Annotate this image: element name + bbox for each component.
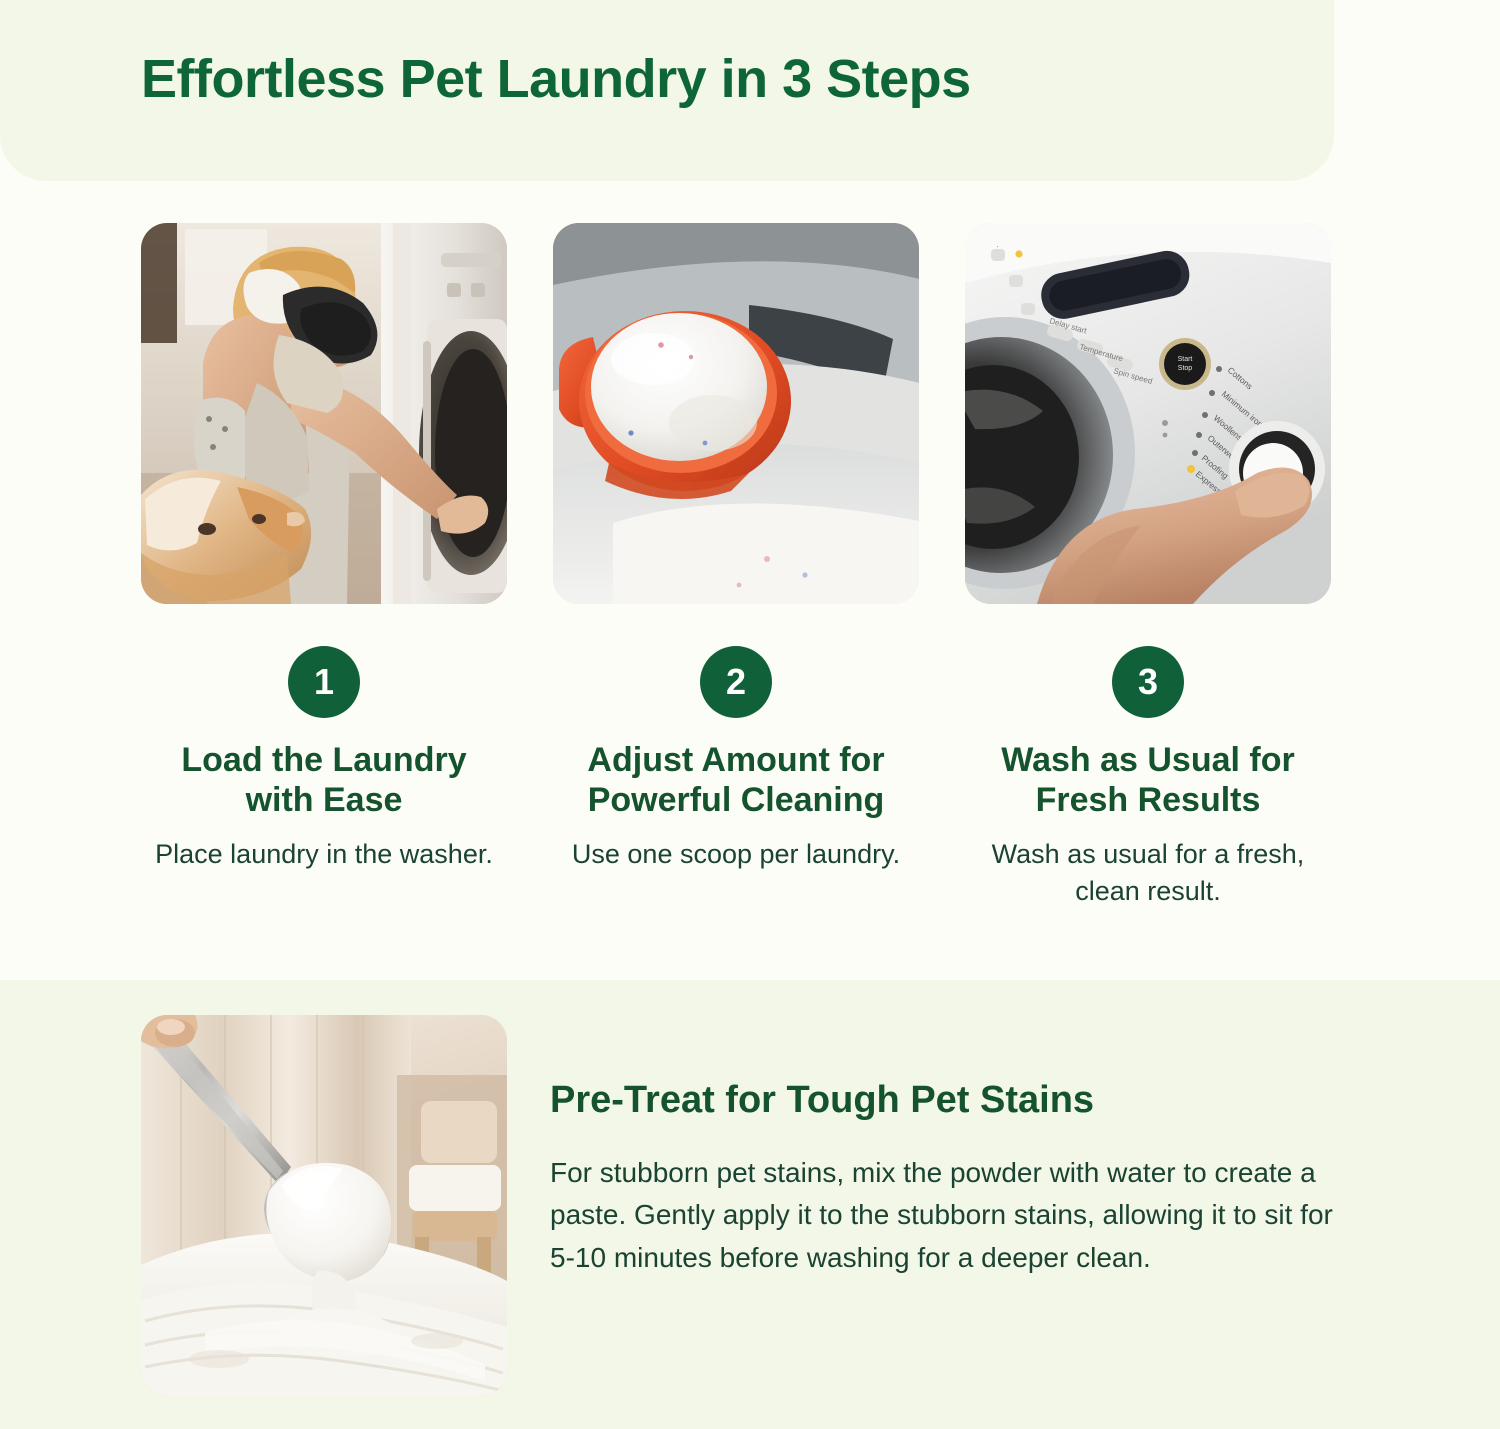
steps-row: 1 Load the Laundry with Ease Place laund… — [0, 223, 1500, 911]
washing-machine-dial-photo: Start Stop Delay start Temperature — [965, 223, 1331, 604]
infographic-page: Effortless Pet Laundry in 3 Steps — [0, 0, 1500, 1429]
pre-treat-text-block: Pre-Treat for Tough Pet Stains For stubb… — [550, 1078, 1350, 1279]
child-loading-laundry-with-dog-photo — [141, 223, 507, 604]
spoon-with-paste-photo — [141, 1015, 507, 1396]
step-number-badge: 3 — [1112, 646, 1184, 718]
step-description: Wash as usual for a fresh, clean result. — [978, 836, 1318, 911]
page-title: Effortless Pet Laundry in 3 Steps — [141, 48, 971, 110]
pre-treat-body: For stubborn pet stains, mix the powder … — [550, 1152, 1350, 1280]
step-description: Use one scoop per laundry. — [572, 836, 900, 873]
svg-text:Stop: Stop — [1178, 365, 1193, 372]
pre-treat-title: Pre-Treat for Tough Pet Stains — [550, 1078, 1350, 1124]
svg-text:Start: Start — [1178, 356, 1193, 363]
detergent-scoop-photo — [553, 223, 919, 604]
step-number-badge: 1 — [288, 646, 360, 718]
step-title: Adjust Amount for Powerful Cleaning — [561, 740, 911, 820]
header-panel: Effortless Pet Laundry in 3 Steps — [0, 0, 1334, 181]
step-card-2: 2 Adjust Amount for Powerful Cleaning Us… — [553, 223, 919, 911]
step-number-badge: 2 — [700, 646, 772, 718]
step-card-3: Start Stop Delay start Temperature — [965, 223, 1331, 911]
step-title: Load the Laundry with Ease — [149, 740, 499, 820]
step-title: Wash as Usual for Fresh Results — [973, 740, 1323, 820]
step-description: Place laundry in the washer. — [155, 836, 493, 873]
step-card-1: 1 Load the Laundry with Ease Place laund… — [141, 223, 507, 911]
